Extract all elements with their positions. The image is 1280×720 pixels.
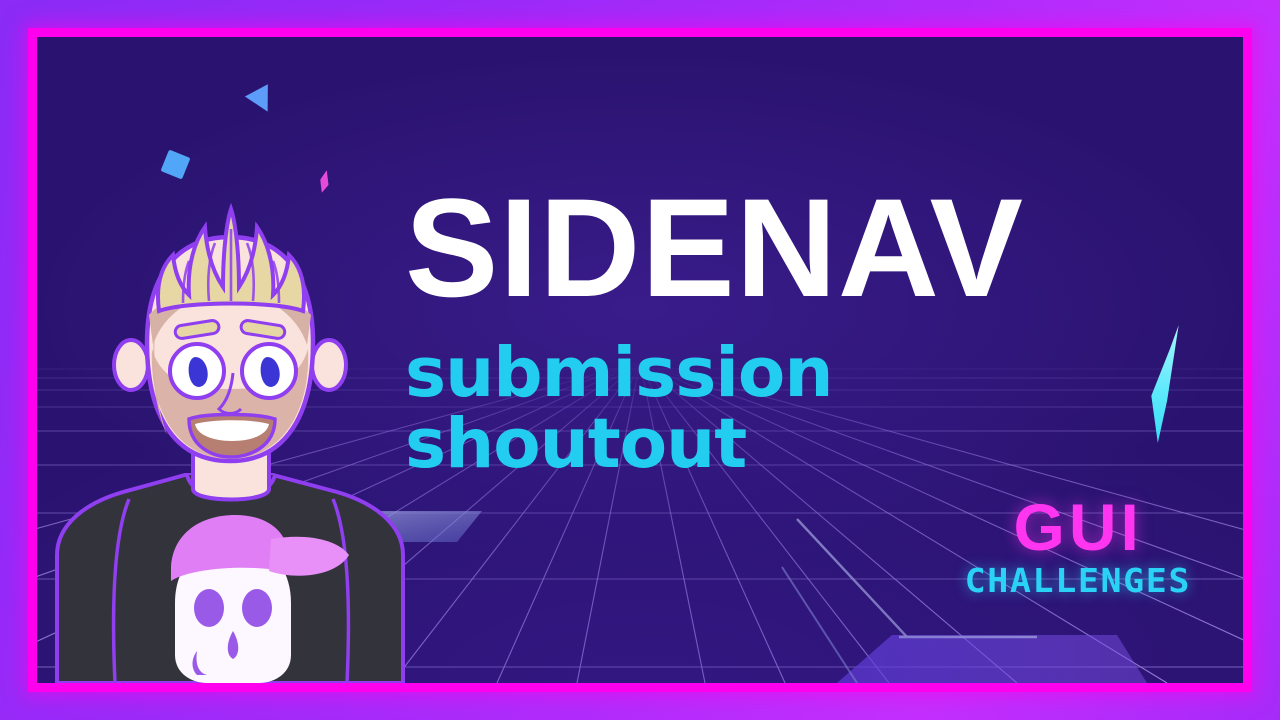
grid-tile-lit-left bbox=[299, 511, 482, 542]
avatar-eyes bbox=[170, 344, 296, 398]
headline-block: SIDENAV submission shoutout bbox=[405, 179, 1205, 479]
video-thumbnail: SIDENAV submission shoutout GUI CHALLENG… bbox=[0, 0, 1280, 720]
avatar-shirt bbox=[57, 475, 403, 683]
brand-logo: GUI CHALLENGES bbox=[971, 497, 1185, 597]
avatar-eyebrows bbox=[174, 320, 285, 340]
avatar-ear-right bbox=[312, 340, 346, 390]
avatar-mouth bbox=[189, 415, 275, 458]
confetti-square-blue-icon bbox=[161, 150, 191, 180]
avatar-illustration bbox=[37, 203, 417, 683]
avatar-nose bbox=[219, 373, 241, 414]
confetti-shard-pink-icon bbox=[318, 169, 330, 193]
subtitle-line-1: submission bbox=[405, 338, 1205, 408]
thumbnail-stage: SIDENAV submission shoutout GUI CHALLENG… bbox=[37, 37, 1243, 683]
confetti-triangle-small-blue-icon bbox=[239, 257, 260, 280]
page-subtitle: submission shoutout bbox=[405, 338, 1205, 479]
brand-logo-secondary: CHALLENGES bbox=[965, 564, 1192, 597]
subtitle-line-2: shoutout bbox=[405, 409, 1205, 479]
avatar-sideburn-right bbox=[271, 302, 311, 346]
page-title: SIDENAV bbox=[405, 179, 1205, 316]
grid-tile-lit-right bbox=[837, 635, 1147, 683]
avatar-sideburn-left bbox=[149, 302, 189, 346]
avatar-beard bbox=[152, 331, 308, 459]
avatar-head bbox=[147, 237, 313, 461]
brand-logo-primary: GUI bbox=[971, 497, 1185, 558]
confetti-triangle-blue-icon bbox=[245, 84, 279, 117]
shirt-skull-graphic bbox=[171, 515, 349, 683]
avatar-mohawk bbox=[158, 209, 304, 311]
avatar-neck bbox=[193, 429, 269, 500]
avatar-ear-left bbox=[114, 340, 148, 390]
